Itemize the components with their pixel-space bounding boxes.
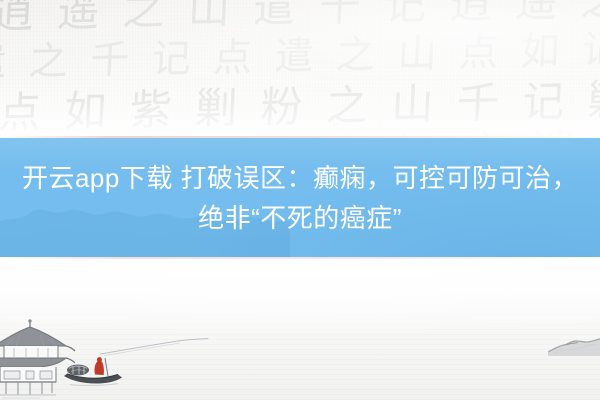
banner-bottom-seam bbox=[0, 257, 600, 259]
fishing-boat-icon bbox=[62, 352, 124, 386]
distant-shore-icon bbox=[548, 330, 600, 358]
headline-banner: 开云app下载 打破误区：癫痫，可控可防可治， 绝非“不死的癌症” bbox=[0, 138, 600, 257]
banner-headline-text: 开云app下载 打破误区：癫痫，可控可防可治， 绝非“不死的癌症” bbox=[0, 138, 600, 257]
banner-image: 逍 遥 之 山 遣 千 记 逍 遥 之 记 遣 遣 之 千 记 点 遣 之 山 … bbox=[0, 0, 600, 400]
headline-line-2: 绝非“不死的癌症” bbox=[198, 198, 402, 238]
headline-line-1: 开云app下载 打破误区：癫痫，可控可防可治， bbox=[22, 158, 578, 198]
calligraphy-white-wash bbox=[0, 0, 600, 150]
